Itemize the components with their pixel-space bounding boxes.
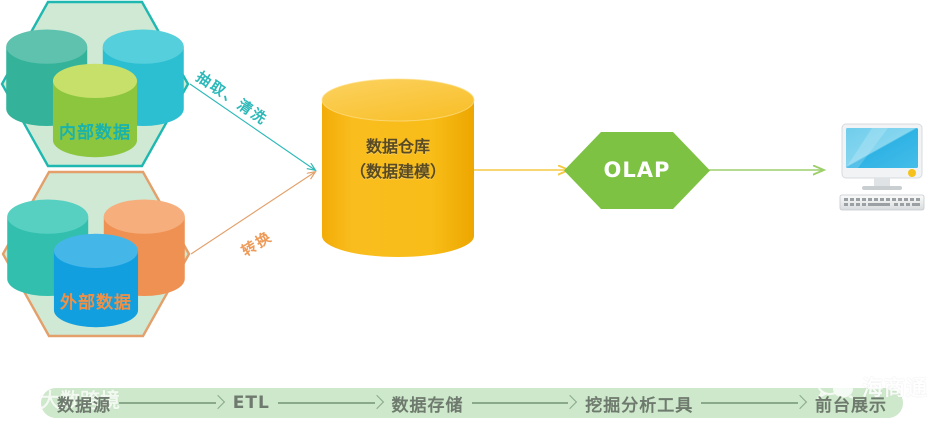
keyboard-body: [840, 195, 924, 210]
flow-bar: 数据源 ETL 数据存储 挖掘分析工具 前台展示: [41, 388, 903, 418]
warehouse-label-line2: （数据建模）: [320, 159, 476, 184]
flow-arrow-4: [701, 396, 807, 410]
node-external-data[interactable]: 外部数据: [1, 170, 191, 338]
flow-step-analysis-tools: 挖掘分析工具: [585, 391, 693, 416]
node-internal-data[interactable]: 内部数据: [0, 0, 190, 168]
desktop-computer-icon[interactable]: [836, 122, 928, 212]
flow-arrow-1: [119, 396, 225, 410]
node-data-warehouse[interactable]: 数据仓库 （数据建模）: [320, 78, 476, 262]
flow-step-data-storage: 数据存储: [392, 391, 464, 416]
brand-logo-icon: [6, 386, 36, 412]
edge-label-extract-clean: 抽取、清洗: [192, 66, 272, 130]
node-label-olap: OLAP: [563, 158, 711, 182]
edge-label-transform: 转换: [237, 226, 276, 261]
flow-step-data-source: 数据源: [57, 391, 111, 416]
node-label-external-data: 外部数据: [1, 288, 191, 313]
diagram-canvas: 内部数据 外部数据 抽取、清洗 转换: [0, 0, 940, 425]
warehouse-label-line1: 数据仓库: [320, 134, 476, 159]
monitor-power-led: [908, 169, 916, 177]
edge-extract-clean-line: [190, 84, 315, 170]
flow-step-frontend-display: 前台展示: [815, 391, 887, 416]
node-olap[interactable]: OLAP: [563, 131, 711, 210]
node-label-internal-data: 内部数据: [0, 118, 190, 143]
flow-arrow-3: [472, 396, 578, 410]
flow-arrow-2: [278, 396, 384, 410]
monitor-stand-base: [862, 186, 902, 190]
monitor-stand-neck: [874, 178, 890, 186]
cylinder-blue: [54, 234, 138, 327]
node-label-data-warehouse: 数据仓库 （数据建模）: [320, 134, 476, 184]
flow-step-etl: ETL: [233, 393, 270, 413]
cylinder-green: [53, 64, 137, 157]
